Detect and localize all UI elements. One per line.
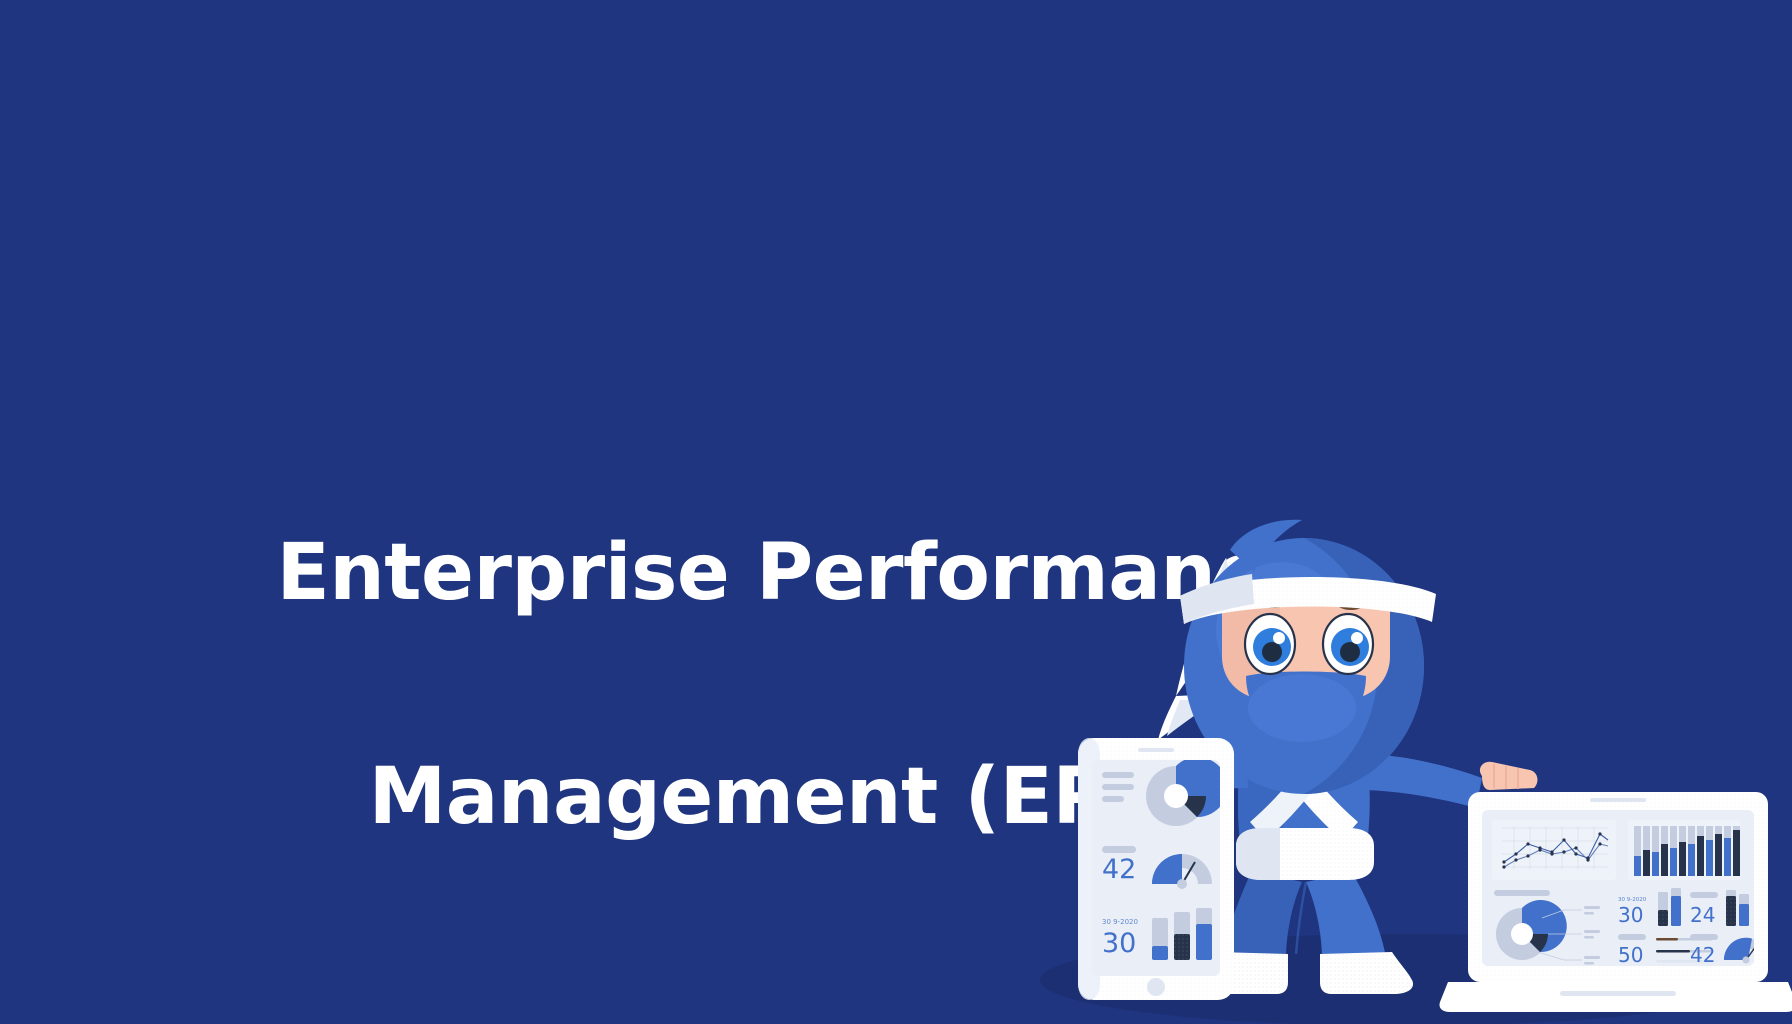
phone-home-button[interactable] <box>1147 978 1165 996</box>
laptop-kpi-24: 24 <box>1690 892 1718 927</box>
laptop-kpi-42: 42 <box>1690 934 1718 967</box>
svg-text:30 9-2020: 30 9-2020 <box>1102 918 1138 926</box>
ninja-left-eye <box>1245 614 1295 674</box>
laptop-kpi-42-value: 42 <box>1690 943 1715 967</box>
laptop-line-chart <box>1492 820 1616 880</box>
laptop-dashboard[interactable]: 30 9-2020 30 24 <box>1439 792 1792 1012</box>
ninja-right-hand <box>1480 762 1538 790</box>
ninja-right-eye <box>1323 614 1373 674</box>
laptop-kpi-30: 30 9-2020 30 <box>1618 897 1647 927</box>
slide-canvas: Enterprise Performance Management (EPM) <box>0 0 1792 1024</box>
laptop-kpi-24-value: 24 <box>1690 903 1715 927</box>
ninja-mask-highlight <box>1248 674 1356 742</box>
laptop-kpi-30-value: 30 <box>1618 903 1643 927</box>
phone-kpi-42: 42 <box>1102 854 1136 885</box>
laptop-camera-bar <box>1590 798 1646 802</box>
laptop-kpi-50-value: 50 <box>1618 943 1643 967</box>
ninja-mascot-illustration: 42 30 9-2020 30 <box>1030 510 1792 1024</box>
smartphone-dashboard[interactable]: 42 30 9-2020 30 <box>1078 738 1234 1000</box>
laptop-kpi-50: 50 <box>1618 934 1646 967</box>
illustration-svg: 42 30 9-2020 30 <box>1030 510 1792 1024</box>
laptop-base <box>1439 982 1792 1012</box>
phone-kpi-30: 30 <box>1102 928 1136 959</box>
phone-speaker <box>1138 748 1174 752</box>
laptop-trackpad[interactable] <box>1560 991 1676 996</box>
laptop-bar-chart <box>1628 820 1740 880</box>
